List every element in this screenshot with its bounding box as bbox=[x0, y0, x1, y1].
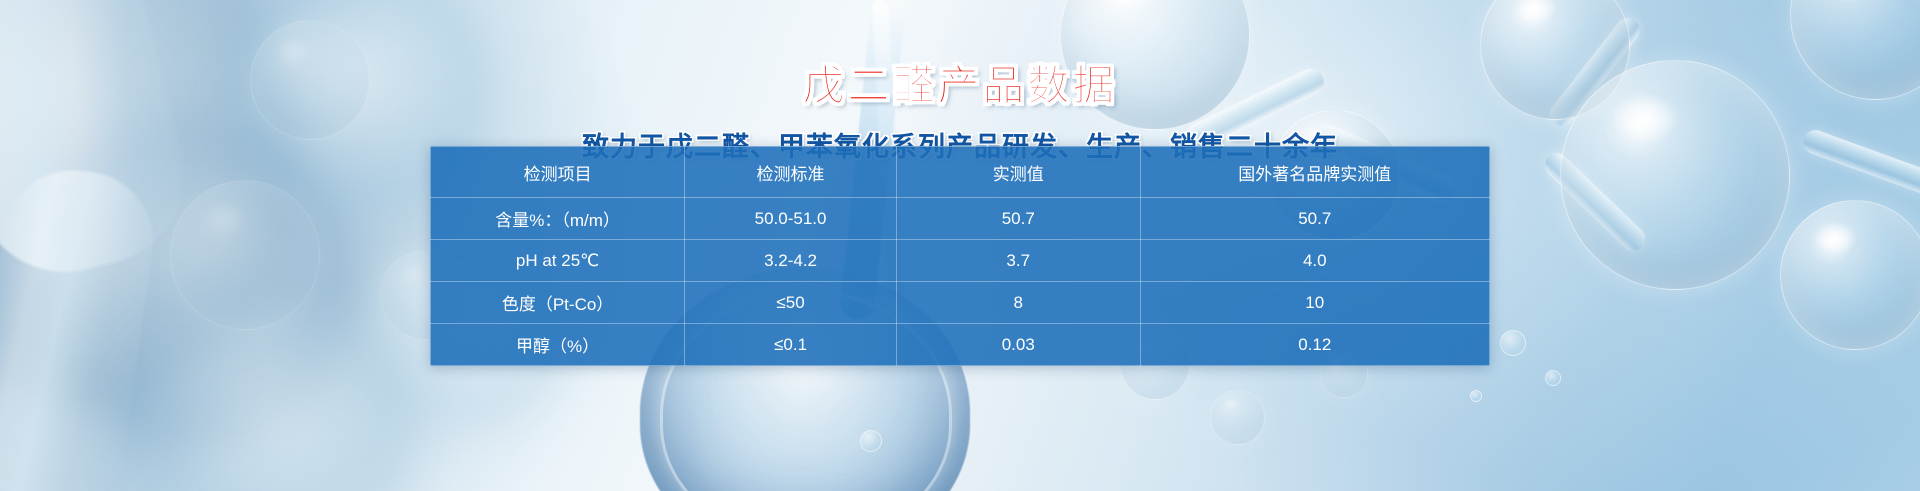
banner-headings: 戊二醛产品数据 致力于戊二醛、甲苯氧化系列产品研发、生产、销售二十余年 bbox=[0, 0, 1920, 164]
cell-foreign: 4.0 bbox=[1140, 240, 1489, 282]
table-row: 含量%：（m/m） 50.0-51.0 50.7 50.7 bbox=[431, 198, 1490, 240]
table-head: 检测项目 检测标准 实测值 国外著名品牌实测值 bbox=[431, 147, 1490, 198]
molecule-atom bbox=[1780, 200, 1920, 350]
cell-item: 色度（Pt-Co） bbox=[431, 282, 685, 324]
table-body: 含量%：（m/m） 50.0-51.0 50.7 50.7 pH at 25℃ … bbox=[431, 198, 1490, 366]
table-row: 色度（Pt-Co） ≤50 8 10 bbox=[431, 282, 1490, 324]
spec-table-container: 检测项目 检测标准 实测值 国外著名品牌实测值 含量%：（m/m） 50.0-5… bbox=[430, 146, 1490, 366]
cell-foreign: 10 bbox=[1140, 282, 1489, 324]
molecule-atom bbox=[170, 180, 320, 330]
col-header-measured: 实测值 bbox=[896, 147, 1140, 198]
bubble-icon bbox=[860, 430, 882, 452]
cell-measured: 8 bbox=[896, 282, 1140, 324]
cell-foreign: 0.12 bbox=[1140, 324, 1489, 366]
cell-standard: 50.0-51.0 bbox=[685, 198, 897, 240]
col-header-standard: 检测标准 bbox=[685, 147, 897, 198]
table-header-row: 检测项目 检测标准 实测值 国外著名品牌实测值 bbox=[431, 147, 1490, 198]
bubble-icon bbox=[1470, 390, 1482, 402]
cell-standard: ≤0.1 bbox=[685, 324, 897, 366]
cell-measured: 3.7 bbox=[896, 240, 1140, 282]
cell-foreign: 50.7 bbox=[1140, 198, 1489, 240]
molecule-atom bbox=[1210, 390, 1265, 445]
table-row: 甲醇（%） ≤0.1 0.03 0.12 bbox=[431, 324, 1490, 366]
cell-item: pH at 25℃ bbox=[431, 240, 685, 282]
col-header-foreign: 国外著名品牌实测值 bbox=[1140, 147, 1489, 198]
glass-tube-icon bbox=[0, 161, 162, 491]
cell-standard: 3.2-4.2 bbox=[685, 240, 897, 282]
table-row: pH at 25℃ 3.2-4.2 3.7 4.0 bbox=[431, 240, 1490, 282]
cell-item: 甲醇（%） bbox=[431, 324, 685, 366]
bubble-icon bbox=[1500, 330, 1526, 356]
page-title: 戊二醛产品数据 bbox=[0, 52, 1920, 113]
cell-measured: 50.7 bbox=[896, 198, 1140, 240]
bubble-icon bbox=[1545, 370, 1561, 386]
bokeh-blob bbox=[120, 300, 420, 491]
col-header-item: 检测项目 bbox=[431, 147, 685, 198]
product-data-banner: 戊二醛产品数据 致力于戊二醛、甲苯氧化系列产品研发、生产、销售二十余年 检测项目… bbox=[0, 0, 1920, 491]
bokeh-blob bbox=[30, 120, 360, 450]
molecule-bond bbox=[1540, 148, 1650, 256]
cell-item: 含量%：（m/m） bbox=[431, 198, 685, 240]
cell-standard: ≤50 bbox=[685, 282, 897, 324]
product-spec-table: 检测项目 检测标准 实测值 国外著名品牌实测值 含量%：（m/m） 50.0-5… bbox=[430, 146, 1490, 366]
cell-measured: 0.03 bbox=[896, 324, 1140, 366]
